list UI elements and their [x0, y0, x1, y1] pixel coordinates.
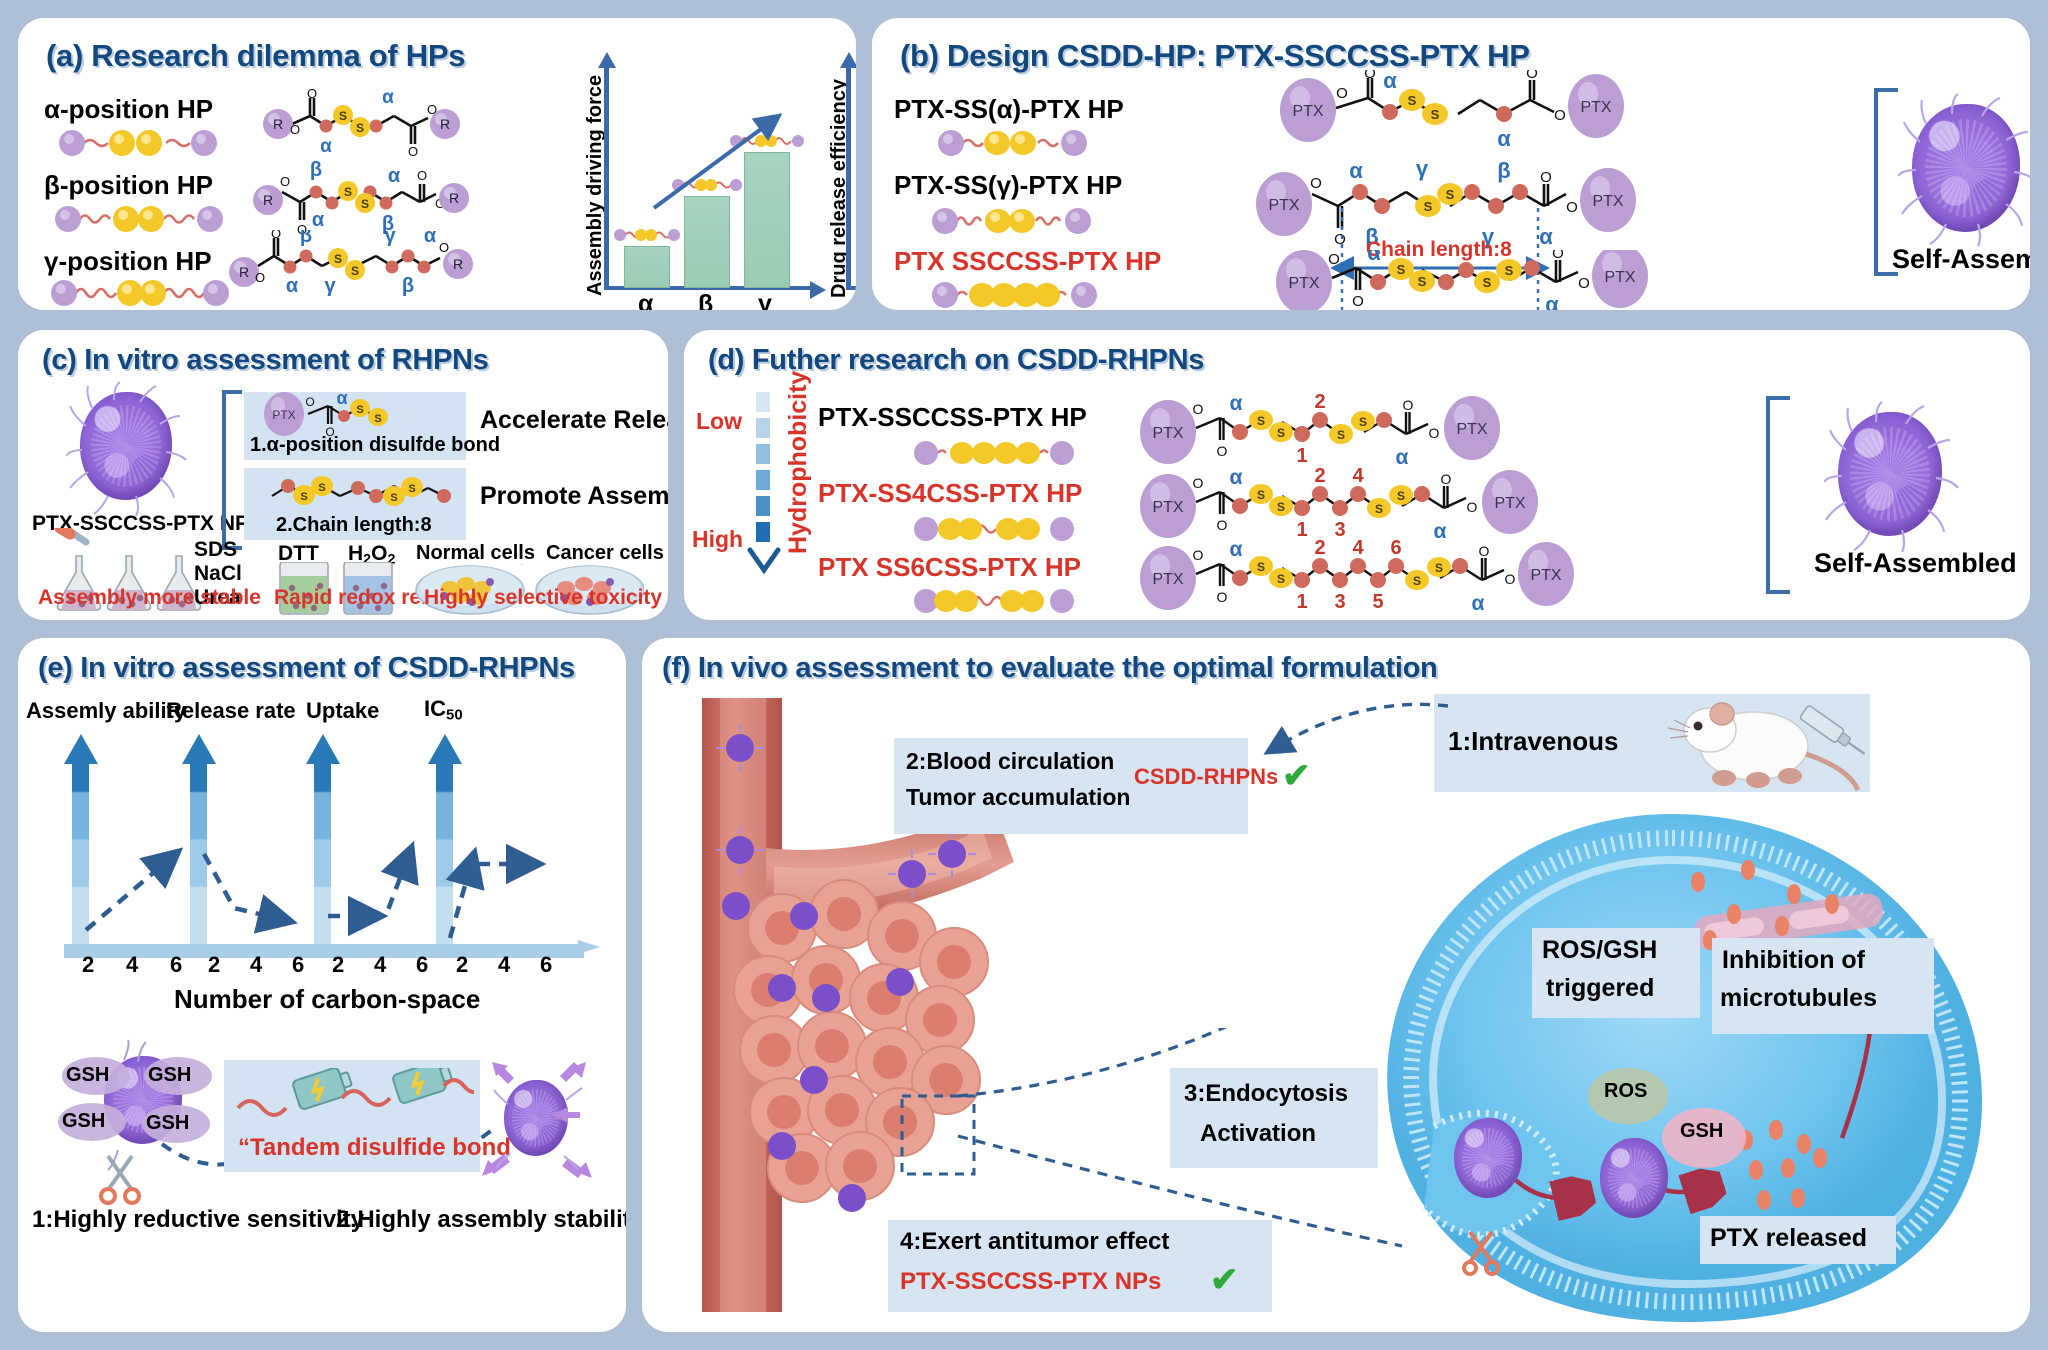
structure-b-ptx-ssccss: PTX O O O O PTX S S S S α α: [1270, 250, 1660, 310]
svg-text:O: O: [1193, 475, 1204, 491]
svg-text:2: 2: [1314, 465, 1325, 487]
hp-cartoon-gamma: [50, 280, 230, 306]
subchart-label-ic50: IC50: [424, 696, 463, 724]
svg-text:O: O: [1364, 70, 1376, 82]
panel-e-caption-right: 2:Highly assembly stability: [336, 1206, 626, 1234]
svg-text:O: O: [1217, 517, 1228, 533]
hydrophobicity-high-label: High: [692, 526, 743, 553]
nanoparticle-hairs-b: [1898, 92, 2030, 248]
svg-text:O: O: [1479, 543, 1490, 559]
svg-text:S: S: [1277, 500, 1285, 514]
e-tick-4-2: 2: [456, 952, 468, 978]
svg-text:PTX: PTX: [1456, 421, 1487, 438]
svg-text:S: S: [1257, 414, 1265, 428]
svg-text:O: O: [307, 86, 317, 101]
hydrophobicity-axis-title: Hydrophobicity: [784, 371, 813, 554]
svg-text:O: O: [408, 144, 418, 159]
step2-line1: 2:Blood circulation: [906, 748, 1114, 775]
svg-text:R: R: [239, 264, 249, 280]
svg-text:α: α: [1367, 250, 1381, 265]
panel-b-design-csdd-hp: (b) Design CSDD-HP: PTX-SSCCSS-PTX HP PT…: [872, 18, 2030, 310]
svg-text:S: S: [1435, 561, 1443, 575]
e-tick-1-6: 6: [170, 952, 182, 978]
svg-text:PTX: PTX: [1530, 567, 1561, 584]
svg-text:PTX: PTX: [1288, 275, 1319, 292]
panel-a-research-dilemma: (a) Research dilemma of HPs α-position H…: [18, 18, 856, 310]
svg-text:S: S: [318, 482, 325, 494]
ros-tag-label: ROS: [1604, 1080, 1647, 1103]
feature-1-caption: 1.α-position disulfde bond: [250, 434, 500, 457]
ptx-released-label: PTX released: [1710, 1224, 1867, 1253]
svg-text:S: S: [1408, 93, 1417, 108]
svg-text:α: α: [1349, 160, 1363, 183]
svg-text:α: α: [382, 87, 394, 108]
svg-text:O: O: [271, 230, 281, 241]
svg-text:O: O: [1552, 250, 1564, 262]
gsh-label-2: GSH: [148, 1064, 191, 1087]
e-tick-2-2: 2: [208, 952, 220, 978]
svg-text:S: S: [374, 413, 381, 425]
e-tick-2-6: 6: [292, 952, 304, 978]
reagent-sds: SDS: [194, 538, 237, 562]
svg-text:R: R: [453, 256, 463, 272]
svg-text:α: α: [336, 392, 347, 408]
structure-d-ss6css: PTX O O O O PTX S S S S α α 2 4 6 1 3: [1134, 536, 1574, 620]
svg-text:O: O: [417, 168, 427, 183]
svg-text:S: S: [344, 185, 352, 199]
svg-text:S: S: [1483, 275, 1492, 290]
svg-text:S: S: [1257, 560, 1265, 574]
svg-text:O: O: [1578, 275, 1590, 292]
svg-text:PTX: PTX: [1268, 197, 1299, 214]
svg-text:O: O: [1505, 571, 1516, 587]
panel-d-row-label-2: PTX-SS4CSS-PTX HP: [818, 478, 1082, 509]
svg-text:S: S: [334, 252, 342, 266]
nanoparticle-hairs-c: [66, 380, 188, 516]
e-tick-3-2: 2: [332, 952, 344, 978]
svg-text:O: O: [1467, 499, 1478, 515]
svg-text:PTX: PTX: [1292, 103, 1323, 120]
hp-cartoon-d1: [914, 440, 1074, 471]
svg-text:R: R: [440, 116, 450, 132]
hp-cartoon-b1: [938, 130, 1088, 161]
svg-text:O: O: [255, 270, 265, 285]
svg-text:O: O: [290, 122, 300, 137]
svg-text:S: S: [356, 404, 363, 416]
svg-text:O: O: [1403, 397, 1414, 413]
chart1-bar-alpha: [624, 246, 670, 288]
svg-text:S: S: [408, 483, 415, 495]
svg-text:α: α: [1230, 466, 1243, 489]
svg-text:α: α: [388, 165, 401, 187]
svg-text:O: O: [1193, 401, 1204, 417]
gsh-tag-label: GSH: [1680, 1120, 1723, 1143]
panel-f-title: (f) In vivo assessment to evaluate the o…: [662, 652, 1437, 685]
conclusion-assembly-stable: Assembly more stable: [38, 586, 261, 610]
svg-text:α: α: [286, 275, 299, 297]
svg-text:α: α: [312, 209, 325, 231]
svg-text:O: O: [1336, 85, 1348, 102]
gsh-label-3: GSH: [62, 1110, 105, 1133]
svg-text:S: S: [1505, 263, 1514, 278]
label-normal-cells: Normal cells: [416, 542, 535, 565]
svg-text:PTX: PTX: [272, 408, 295, 422]
reagent-nacl: NaCl: [194, 562, 242, 586]
svg-text:O: O: [1328, 251, 1340, 268]
compression-arrows-icon: [470, 1050, 606, 1190]
panel-b-self-assembled-label: Self-Assembled: [1892, 244, 2030, 275]
label-cancer-cells: Cancer cells: [546, 542, 664, 565]
svg-text:R: R: [273, 116, 283, 132]
svg-text:O: O: [1352, 293, 1364, 310]
panel-b-row-label-3: PTX SSCCSS-PTX HP: [894, 246, 1161, 277]
inhibition-line1: Inhibition of: [1722, 946, 1865, 975]
e-tick-4-6: 6: [540, 952, 552, 978]
tandem-disulfide-icon: [230, 1068, 474, 1128]
structure-gamma-position: R O O O R S S β γ α α γ β: [218, 230, 486, 310]
svg-text:R: R: [263, 192, 273, 208]
svg-text:S: S: [1359, 415, 1367, 429]
svg-text:R: R: [449, 190, 459, 206]
svg-text:β: β: [402, 275, 414, 297]
svg-text:2: 2: [1314, 537, 1325, 559]
svg-text:S: S: [1413, 574, 1421, 588]
svg-text:α: α: [1230, 538, 1243, 561]
cell-nanoparticle-inside: [1600, 1138, 1668, 1218]
svg-text:6: 6: [1390, 537, 1401, 559]
panel-e-title: (e) In vitro assessment of CSDD-RHPNs: [38, 652, 575, 685]
svg-text:S: S: [1277, 572, 1285, 586]
svg-text:4: 4: [1352, 465, 1364, 487]
svg-text:1: 1: [1296, 591, 1307, 613]
svg-text:β: β: [1497, 160, 1510, 183]
hp-cartoon-b3: [932, 282, 1098, 310]
svg-text:S: S: [361, 197, 369, 211]
svg-text:5: 5: [1372, 591, 1383, 613]
structure-b-ptx-ss-alpha: PTX O O O O PTX S S α α: [1272, 70, 1642, 163]
f-arrow-mouse-to-blood: [1242, 694, 1462, 774]
feature-2-caption: 2.Chain length:8: [276, 514, 432, 537]
subchart-label-assembly-ability: Assemly ability: [26, 698, 186, 724]
svg-text:β: β: [310, 160, 322, 181]
svg-text:S: S: [1375, 502, 1383, 516]
mouse-icon: [1662, 694, 1872, 794]
svg-text:4: 4: [1352, 537, 1364, 559]
svg-text:S: S: [1397, 262, 1406, 277]
feature-1-effect: Accelerate Release: [480, 406, 668, 435]
conclusion-selective-toxicity: Highly selective toxicity: [424, 586, 662, 610]
panel-d-further-research: (d) Futher research on CSDD-RHPNs Low Hi…: [684, 330, 2030, 620]
panel-b-row-label-2: PTX-SS(γ)-PTX HP: [894, 170, 1122, 201]
hp-cartoon-d2: [914, 516, 1074, 547]
ros-gsh-line1: ROS/GSH: [1542, 936, 1657, 965]
svg-text:PTX: PTX: [1152, 571, 1183, 588]
panel-e-in-vitro-csdd-rhpns: (e) In vitro assessment of CSDD-RHPNs As…: [18, 638, 626, 1332]
svg-text:γ: γ: [384, 230, 396, 247]
svg-text:O: O: [439, 240, 449, 255]
panel-e-trend-curves: [58, 758, 598, 948]
e-tick-3-6: 6: [416, 952, 428, 978]
svg-text:S: S: [390, 492, 397, 504]
svg-text:S: S: [339, 109, 347, 123]
svg-text:α: α: [1230, 392, 1243, 415]
panel-e-x-axis-title: Number of carbon-space: [174, 984, 480, 1015]
svg-text:O: O: [1310, 175, 1322, 192]
e-tick-1-2: 2: [82, 952, 94, 978]
panel-d-row-label-1: PTX-SSCCSS-PTX HP: [818, 402, 1087, 433]
svg-text:S: S: [356, 121, 364, 135]
hydrophobicity-low-label: Low: [696, 408, 742, 435]
svg-text:PTX: PTX: [1592, 193, 1623, 210]
panel-c-bracket: [222, 390, 242, 550]
inhibition-line2: microtubules: [1720, 984, 1877, 1013]
hp-cartoon-d3: [914, 588, 1074, 619]
svg-text:O: O: [1193, 547, 1204, 563]
f-zoom-connectors: [932, 1028, 1472, 1328]
panel-b-title: (b) Design CSDD-HP: PTX-SSCCSS-PTX HP: [900, 38, 1530, 74]
svg-text:PTX: PTX: [1152, 499, 1183, 516]
svg-text:S: S: [1277, 426, 1285, 440]
svg-text:PTX: PTX: [1604, 269, 1635, 286]
panel-d-row-label-3: PTX SS6CSS-PTX HP: [818, 552, 1081, 583]
svg-text:O: O: [1429, 425, 1440, 441]
svg-text:α: α: [1472, 592, 1485, 615]
svg-text:S: S: [1418, 274, 1427, 289]
svg-text:α: α: [1383, 70, 1397, 93]
svg-text:O: O: [1540, 169, 1552, 186]
svg-text:O: O: [1217, 589, 1228, 605]
subchart-label-release-rate: Release rate: [166, 698, 296, 724]
svg-text:S: S: [1397, 489, 1405, 503]
step1-label: 1:Intravenous: [1448, 726, 1619, 757]
panel-a-row-label-beta: β-position HP: [44, 170, 213, 201]
panel-a-row-label-alpha: α-position HP: [44, 94, 213, 125]
panel-b-row-label-1: PTX-SS(α)-PTX HP: [894, 94, 1124, 125]
panel-d-bracket: [1766, 396, 1790, 594]
svg-text:O: O: [1217, 443, 1228, 459]
hp-cartoon-alpha: [58, 130, 218, 156]
svg-text:O: O: [305, 395, 314, 409]
ros-gsh-line2: triggered: [1546, 974, 1654, 1003]
svg-text:S: S: [1257, 488, 1265, 502]
svg-text:PTX: PTX: [1152, 425, 1183, 442]
svg-text:S: S: [1337, 428, 1345, 442]
svg-text:3: 3: [1334, 591, 1345, 613]
svg-text:β: β: [300, 230, 312, 247]
panel-f-in-vivo-assessment: (f) In vivo assessment to evaluate the o…: [642, 638, 2030, 1332]
nanoparticle-hairs-d: [1824, 400, 1960, 552]
chart1-tick-beta: β: [698, 290, 713, 310]
svg-text:S: S: [1446, 187, 1455, 202]
e-tick-2-4: 4: [250, 952, 262, 978]
svg-text:α: α: [320, 136, 332, 157]
panel-a-title: (a) Research dilemma of HPs: [46, 38, 465, 74]
panel-c-in-vitro-rhpns: (c) In vitro assessment of RHPNs PTX-SSC…: [18, 330, 668, 620]
svg-text:O: O: [280, 174, 290, 189]
gsh-label-1: GSH: [66, 1064, 109, 1087]
svg-text:S: S: [1431, 107, 1440, 122]
svg-text:α: α: [1497, 126, 1511, 151]
svg-text:PTX: PTX: [1494, 495, 1525, 512]
e-tick-4-4: 4: [498, 952, 510, 978]
chart1-tick-alpha: α: [638, 290, 653, 310]
e-tick-3-4: 4: [374, 952, 386, 978]
panel-d-title: (d) Futher research on CSDD-RHPNs: [708, 344, 1204, 377]
hydrophobicity-chevron-icon: [744, 546, 784, 576]
chart1-tick-gamma: γ: [758, 290, 772, 310]
svg-text:S: S: [351, 264, 359, 278]
svg-text:O: O: [1526, 70, 1538, 82]
svg-text:α: α: [1545, 292, 1559, 310]
hp-cartoon-beta: [54, 206, 224, 232]
subchart-label-uptake: Uptake: [306, 698, 379, 724]
panel-d-self-assembled-label: Self-Assembled: [1814, 548, 2017, 579]
svg-text:γ: γ: [1416, 160, 1429, 181]
structure-alpha-position: R O O O O R S S α α: [248, 86, 473, 171]
feature-2-effect: Promote Assembly: [480, 482, 668, 511]
svg-text:γ: γ: [324, 275, 336, 297]
step2-line2: Tumor accumulation: [906, 784, 1131, 811]
svg-text:PTX: PTX: [1580, 99, 1611, 116]
feature-2-structure: S S S S: [266, 470, 452, 512]
svg-text:α: α: [424, 230, 437, 247]
panel-e-caption-left: 1:Highly reductive sensitivity: [32, 1206, 364, 1234]
feature-1-structure: PTX O O S S α: [254, 392, 454, 440]
svg-text:O: O: [1554, 107, 1566, 124]
e-tick-1-4: 4: [126, 952, 138, 978]
svg-text:2: 2: [1314, 391, 1325, 413]
panel-a-row-label-gamma: γ-position HP: [44, 246, 212, 277]
svg-text:O: O: [1441, 471, 1452, 487]
panel-c-title: (c) In vitro assessment of RHPNs: [42, 344, 488, 377]
hp-cartoon-b2: [932, 208, 1092, 239]
svg-text:S: S: [300, 491, 307, 503]
